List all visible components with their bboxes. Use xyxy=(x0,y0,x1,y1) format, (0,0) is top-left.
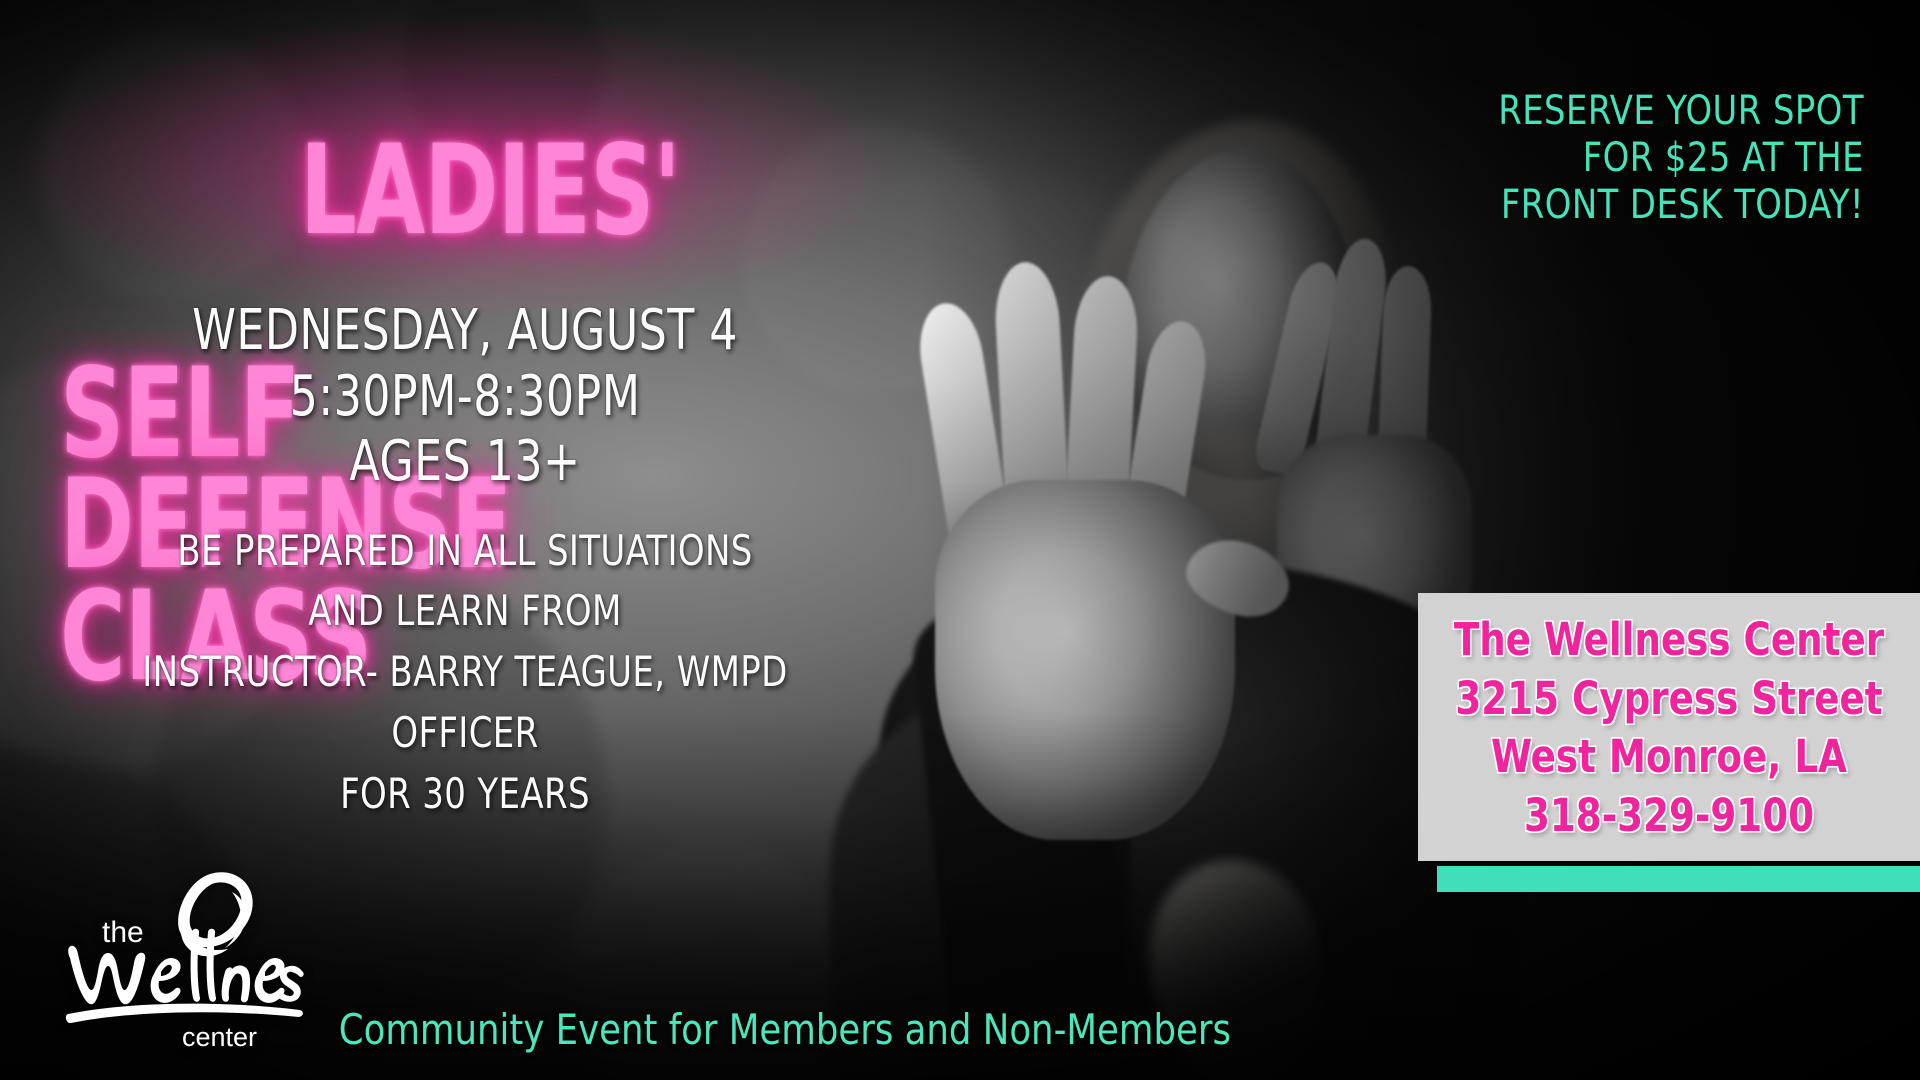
venue-name: The Wellness Center xyxy=(1438,611,1900,670)
event-time: 5:30PM-8:30PM xyxy=(109,364,822,430)
event-description: BE PREPARED IN ALL SITUATIONS AND LEARN … xyxy=(60,521,870,825)
description-line-2: AND LEARN FROM xyxy=(101,581,830,642)
cta-line-1: RESERVE YOUR SPOT xyxy=(1469,88,1864,135)
logo-the: the xyxy=(102,916,144,949)
event-details: WEDNESDAY, AUGUST 4 5:30PM-8:30PM AGES 1… xyxy=(60,298,870,825)
event-ages: AGES 13+ xyxy=(109,429,822,495)
venue-phone: 318-329-9100 xyxy=(1438,787,1900,846)
address-panel: The Wellness Center 3215 Cypress Street … xyxy=(1418,593,1920,861)
cta-line-3: FRONT DESK TODAY! xyxy=(1469,182,1864,229)
venue-city: West Monroe, LA xyxy=(1438,728,1900,787)
venue-street: 3215 Cypress Street xyxy=(1438,670,1900,729)
poster-canvas: LADIES' SELF DEFENSE CLASS RESERVE YOUR … xyxy=(0,0,1920,1080)
headline-line-1: LADIES' xyxy=(60,136,780,248)
reserve-callout: RESERVE YOUR SPOT FOR $25 AT THE FRONT D… xyxy=(1469,88,1864,230)
tagline-text: Community Event for Members and Non-Memb… xyxy=(339,1005,1231,1054)
event-date: WEDNESDAY, AUGUST 4 xyxy=(109,298,822,364)
wellness-center-logo: the center xyxy=(62,862,312,1052)
description-line-4: FOR 30 YEARS xyxy=(101,764,830,825)
description-line-3: INSTRUCTOR- BARRY TEAGUE, WMPD OFFICER xyxy=(101,642,830,764)
cta-line-2: FOR $25 AT THE xyxy=(1469,135,1864,182)
description-line-1: BE PREPARED IN ALL SITUATIONS xyxy=(101,521,830,582)
logo-center: center xyxy=(182,1022,257,1052)
accent-bar xyxy=(1437,866,1920,892)
address-text: The Wellness Center 3215 Cypress Street … xyxy=(1438,611,1900,845)
swirl-leaf-icon xyxy=(178,872,253,956)
